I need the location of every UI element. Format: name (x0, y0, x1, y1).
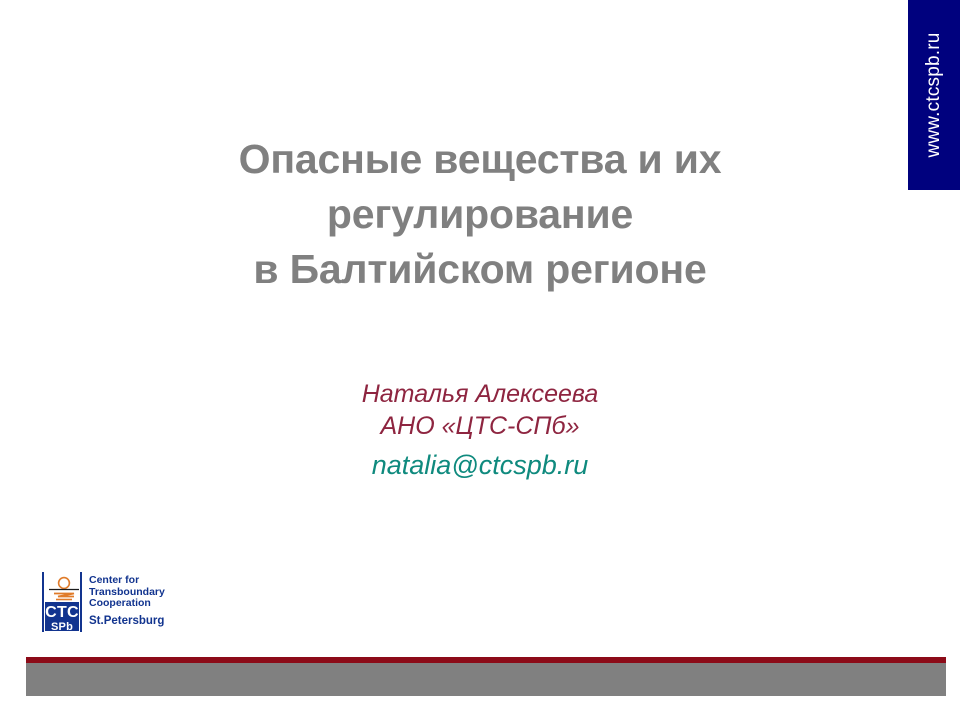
logo-city-label: St.Petersburg (89, 615, 165, 628)
logo-org-line-3: Cooperation (89, 598, 165, 610)
logo-badge-primary: CTC (45, 605, 79, 621)
title-line-3: в Балтийском регионе (120, 242, 840, 297)
presentation-slide: www.ctcspb.ru Опасные вещества и их регу… (0, 0, 960, 720)
logo-mark: CTC SPb (42, 572, 82, 632)
website-side-bar: www.ctcspb.ru (908, 0, 960, 190)
author-organization: АНО «ЦТС-СПб» (180, 410, 780, 442)
title-line-1: Опасные вещества и их (120, 132, 840, 187)
page-title: Опасные вещества и их регулирование в Ба… (120, 132, 840, 297)
author-name: Наталья Алексеева (180, 378, 780, 410)
title-line-2: регулирование (120, 187, 840, 242)
footer-band (26, 663, 946, 696)
author-block: Наталья Алексеева АНО «ЦТС-СПб» natalia@… (180, 378, 780, 484)
organization-logo: CTC SPb Center for Transboundary Coopera… (42, 572, 190, 634)
logo-badge: CTC SPb (45, 602, 79, 631)
sun-over-water-icon (44, 575, 84, 602)
website-url-label: www.ctcspb.ru (923, 32, 945, 157)
logo-badge-secondary: SPb (45, 622, 79, 633)
author-email-link[interactable]: natalia@ctcspb.ru (180, 446, 780, 484)
logo-org-line-1: Center for (89, 575, 165, 587)
logo-text: Center for Transboundary Cooperation St.… (89, 572, 165, 628)
